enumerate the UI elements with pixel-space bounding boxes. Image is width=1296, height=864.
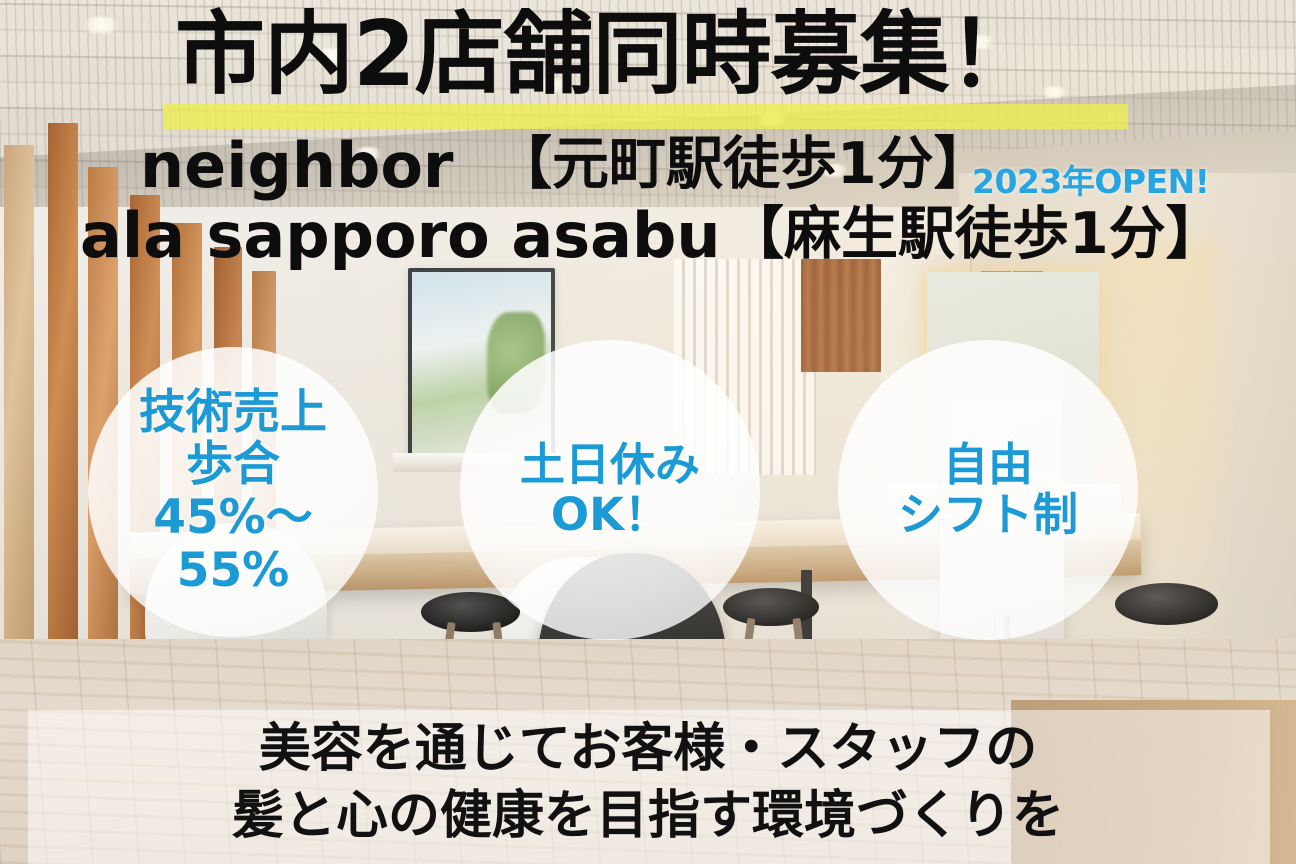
stool-seat-black bbox=[1115, 583, 1219, 624]
shop-station-1: 【元町駅徒歩1分】 bbox=[495, 135, 991, 195]
wood-door-panel bbox=[801, 259, 881, 371]
benefit-circle-flexible-shift: 自由 シフト制 bbox=[838, 340, 1138, 640]
shop-row-2: ala sapporo asabu 【麻生駅徒歩1分】 bbox=[0, 203, 1296, 275]
stool-seat-black bbox=[723, 588, 819, 627]
open-year-badge: 2023年OPEN! bbox=[972, 155, 1209, 203]
shop-name-1: neighbor bbox=[140, 133, 454, 198]
benefit-circle-text: 自由 シフト制 bbox=[898, 440, 1078, 541]
headline-highlight-bar bbox=[163, 104, 1128, 129]
recruitment-banner: 市内2店舗同時募集！ neighbor 【元町駅徒歩1分】 2023年OPEN!… bbox=[0, 0, 1296, 864]
benefit-circle-commission: 技術売上 歩合 45%〜 55% bbox=[88, 347, 378, 637]
shop-station-2: 【麻生駅徒歩1分】 bbox=[727, 205, 1223, 265]
shop-name-2: ala sapporo asabu bbox=[80, 203, 720, 268]
page-title: 市内2店舗同時募集！ bbox=[175, 10, 1038, 100]
benefit-circle-text: 土日休み OK！ bbox=[520, 440, 700, 541]
benefit-circle-text: 技術売上 歩合 45%〜 55% bbox=[139, 387, 327, 598]
tagline-text: 美容を通じてお客様・スタッフの 髪と心の健康を目指す環境づくりを bbox=[0, 716, 1296, 849]
benefit-circle-weekend-off: 土日休み OK！ bbox=[460, 340, 760, 640]
